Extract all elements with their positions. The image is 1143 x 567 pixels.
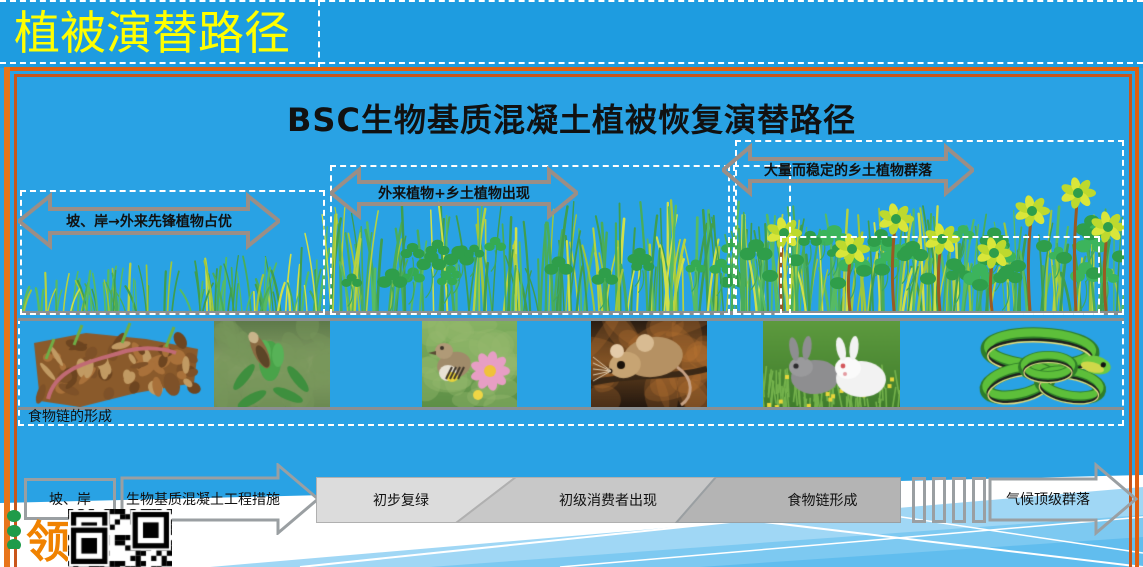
food-chain-label: 食物链的形成 [28, 406, 112, 426]
leaf-icon [6, 509, 22, 549]
slide-canvas: 植被演替路径 BSC生物基质混凝土植被恢复演替路径 坡、岸→外来先锋植物占优 外… [0, 0, 1143, 567]
zone-box-native-inner [780, 236, 1100, 315]
process-climax-label: 气候顶级群落 [988, 462, 1138, 536]
photo-bird-with-flower [422, 321, 517, 407]
food-chain-photo-strip [18, 318, 1124, 410]
frame-left-accent-bar [4, 67, 10, 567]
process-tick-group [912, 477, 992, 523]
stage-arrow-2: 外来植物+乡土植物出现 [330, 165, 578, 221]
photo-green-snake [970, 321, 1115, 407]
title-band: 植被演替路径 [0, 0, 1143, 68]
process-step-3-label: 食物链形成 [740, 477, 905, 523]
photo-strip-bottom-rule [18, 407, 1124, 410]
watermark: 领 [0, 505, 200, 567]
stage-arrow-3-label: 大量而稳定的乡土植物群落 [722, 143, 974, 197]
qr-code [68, 509, 172, 567]
process-climax-arrow[interactable]: 气候顶级群落 [988, 462, 1138, 536]
watermark-character: 领 [26, 521, 70, 565]
process-tick-1 [912, 477, 926, 523]
diagram-heading: BSC生物基质混凝土植被恢复演替路径 [0, 95, 1143, 141]
process-tick-2 [932, 477, 946, 523]
stage-arrow-2-label: 外来植物+乡土植物出现 [330, 165, 578, 221]
process-step-1-label: 初步复绿 [316, 477, 486, 523]
page-title: 植被演替路径 [14, 2, 290, 64]
photo-grasshopper-on-plant [214, 321, 330, 407]
process-tick-3 [952, 477, 966, 523]
photo-earthworm-in-soil [26, 321, 206, 407]
process-step-2-label: 初级消费者出现 [508, 477, 708, 523]
stage-arrow-1: 坡、岸→外来先锋植物占优 [18, 190, 280, 252]
frame-top-dashed-rule [0, 62, 1143, 64]
photo-two-rabbits-in-grass [763, 321, 900, 407]
process-tick-4 [972, 477, 986, 523]
stage-arrow-1-label: 坡、岸→外来先锋植物占优 [18, 190, 280, 252]
photo-field-mouse [591, 321, 707, 407]
stage-arrow-3: 大量而稳定的乡土植物群落 [722, 143, 974, 197]
